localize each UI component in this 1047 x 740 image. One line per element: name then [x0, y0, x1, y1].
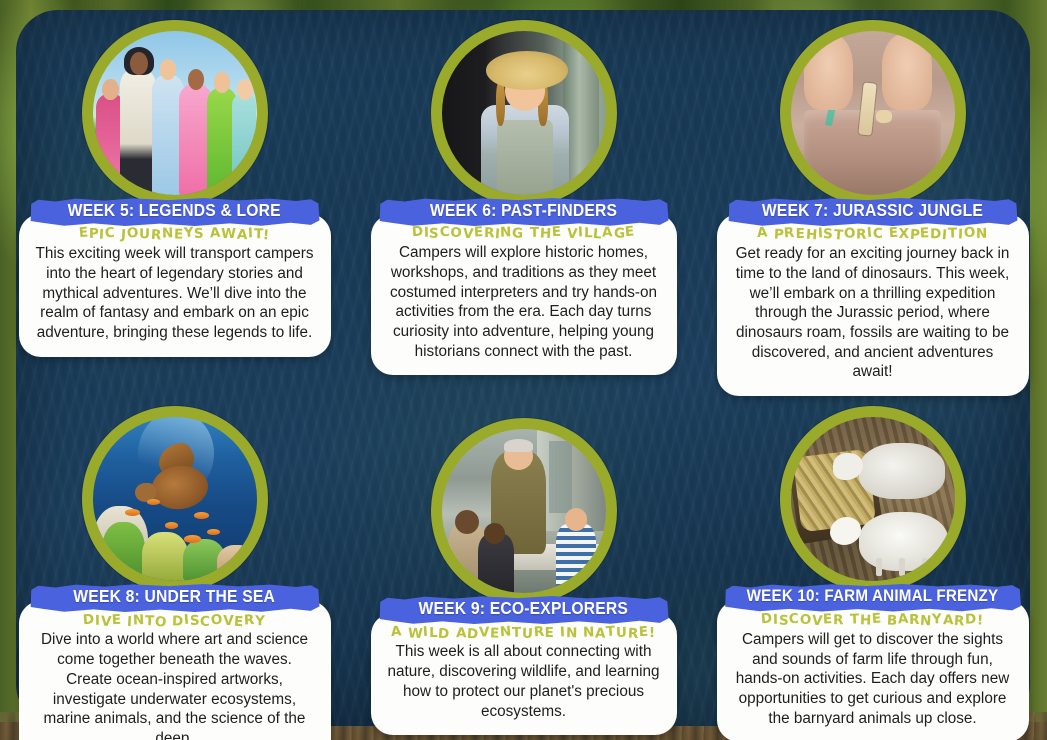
lambs-hay-feeder-photo — [791, 417, 955, 581]
sea-turtle-reef-photo — [93, 417, 257, 581]
photo-ring-week-8 — [82, 406, 268, 592]
week-subtitle-week-5: EPIC JOURNEYS AWAIT! — [33, 227, 317, 242]
week-title-week-8: WEEK 8: UNDER THE SEA — [74, 589, 276, 607]
week-title-banner-week-10: WEEK 10: FARM ANIMAL FRENZY — [724, 584, 1021, 613]
week-card-week-7[interactable]: WEEK 7: JURASSIC JUNGLE A PREHISTORIC EX… — [698, 0, 1047, 396]
week-card-week-10[interactable]: WEEK 10: FARM ANIMAL FRENZY DISCOVER THE… — [698, 396, 1047, 740]
week-body-week-6: Campers will explore historic homes, wor… — [385, 243, 663, 361]
week-title-banner-week-5: WEEK 5: LEGENDS & LORE — [30, 197, 320, 226]
photo-ring-week-10 — [780, 406, 966, 592]
week-title-week-5: WEEK 5: LEGENDS & LORE — [68, 203, 281, 221]
week-card-week-8[interactable]: WEEK 8: UNDER THE SEA DIVE INTO DISCOVER… — [0, 396, 349, 740]
photo-ring-week-9 — [431, 418, 617, 604]
week-body-week-7: Get ready for an exciting journey back i… — [731, 244, 1015, 382]
week-textbox-week-7: A PREHISTORIC EXPEDITION Get ready for a… — [717, 214, 1029, 396]
week-title-week-6: WEEK 6: PAST-FINDERS — [430, 203, 617, 221]
week-title-week-10: WEEK 10: FARM ANIMAL FRENZY — [747, 589, 999, 606]
week-card-week-5[interactable]: WEEK 5: LEGENDS & LORE EPIC JOURNEYS AWA… — [0, 0, 349, 396]
week-title-banner-week-7: WEEK 7: JURASSIC JUNGLE — [728, 197, 1018, 226]
fossil-excavation-photo — [791, 31, 955, 195]
naturalist-with-children-photo — [442, 429, 606, 593]
week-textbox-week-5: EPIC JOURNEYS AWAIT! This exciting week … — [19, 214, 331, 356]
photo-ring-week-7 — [780, 20, 966, 206]
photo-ring-week-5 — [82, 20, 268, 206]
week-body-week-5: This exciting week will transport camper… — [33, 244, 317, 343]
week-subtitle-week-8: DIVE INTO DISCOVERY — [33, 614, 317, 629]
week-card-week-9[interactable]: WEEK 9: ECO-EXPLORERS A WILD ADVENTURE I… — [349, 396, 698, 740]
week-title-week-7: WEEK 7: JURASSIC JUNGLE — [762, 203, 983, 221]
week-textbox-week-10: DISCOVER THE BARNYARD! Campers will get … — [717, 600, 1029, 740]
week-title-banner-week-8: WEEK 8: UNDER THE SEA — [30, 584, 320, 613]
week-subtitle-week-6: DISCOVERING THE VILLAGE — [385, 226, 663, 241]
week-subtitle-week-7: A PREHISTORIC EXPEDITION — [731, 227, 1015, 242]
week-body-week-10: Campers will get to discover the sights … — [731, 630, 1015, 729]
week-body-week-9: This week is all about connecting with n… — [385, 642, 663, 721]
week-textbox-week-6: DISCOVERING THE VILLAGE Campers will exp… — [371, 214, 677, 375]
week-textbox-week-9: A WILD ADVENTURE IN NATURE! This week is… — [371, 613, 677, 736]
week-subtitle-week-10: DISCOVER THE BARNYARD! — [731, 613, 1015, 628]
week-title-banner-week-6: WEEK 6: PAST-FINDERS — [379, 197, 669, 226]
week-title-banner-week-9: WEEK 9: ECO-EXPLORERS — [379, 596, 669, 625]
girl-in-straw-hat-photo — [442, 31, 606, 195]
week-subtitle-week-9: A WILD ADVENTURE IN NATURE! — [385, 626, 663, 641]
week-card-week-6[interactable]: WEEK 6: PAST-FINDERS DISCOVERING THE VIL… — [349, 0, 698, 396]
week-cards-grid: WEEK 5: LEGENDS & LORE EPIC JOURNEYS AWA… — [0, 0, 1047, 740]
photo-ring-week-6 — [431, 20, 617, 206]
week-textbox-week-8: DIVE INTO DISCOVERY Dive into a world wh… — [19, 601, 331, 740]
week-body-week-8: Dive into a world where art and science … — [33, 630, 317, 740]
camp-weeks-poster: WEEK 5: LEGENDS & LORE EPIC JOURNEYS AWA… — [0, 0, 1047, 740]
costumed-children-photo — [93, 31, 257, 195]
week-title-week-9: WEEK 9: ECO-EXPLORERS — [419, 601, 629, 619]
